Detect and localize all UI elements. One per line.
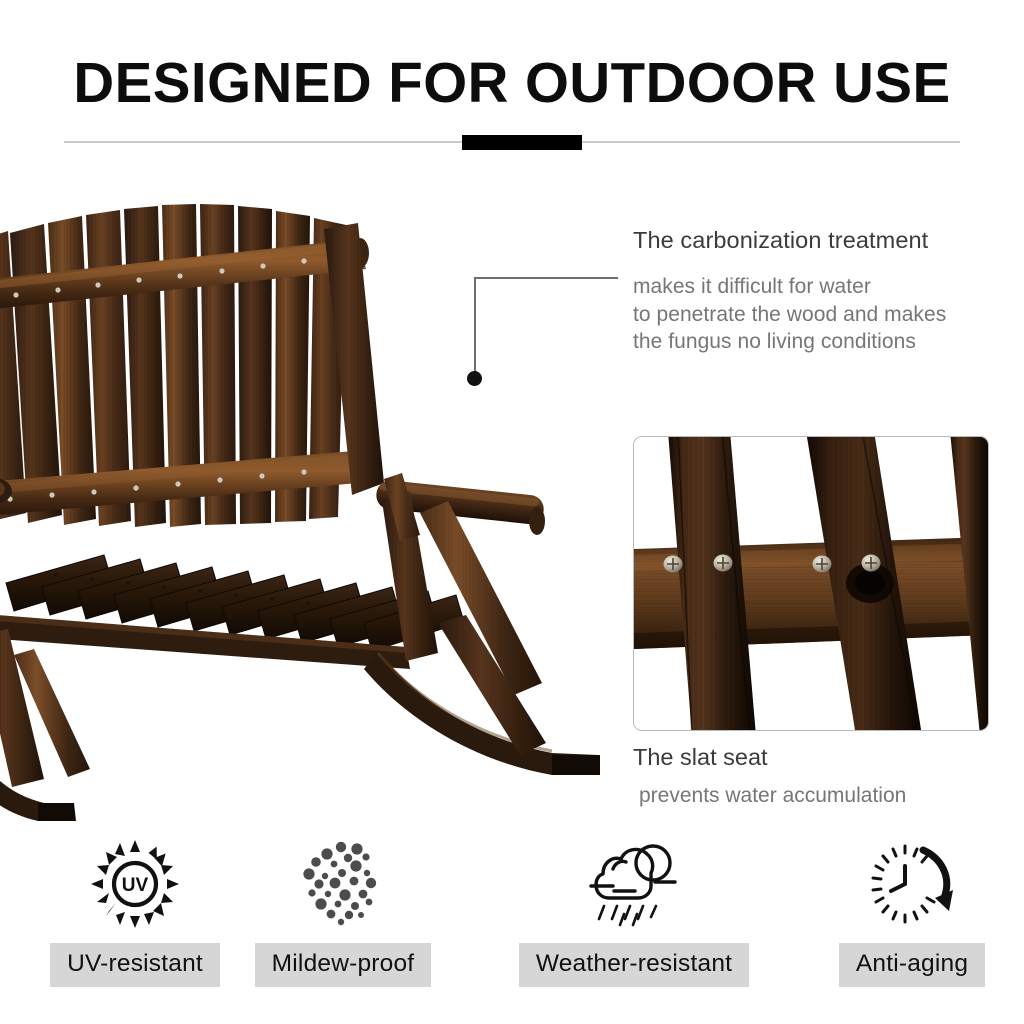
feature-mildew-proof: Mildew-proof (218, 836, 468, 987)
callout-body: makes it difficult for water to penetrat… (633, 273, 1011, 356)
feature-label-uv-resistant: UV-resistant (50, 943, 220, 987)
feature-badges-row: UV (0, 836, 1024, 996)
screw (714, 555, 733, 572)
screw (862, 555, 881, 572)
feature-label-anti-aging: Anti-aging (839, 943, 985, 987)
callout-heading: The carbonization treatment (633, 225, 1011, 255)
divider-accent-bar (462, 135, 582, 150)
screw (664, 556, 683, 573)
carbonization-callout: The carbonization treatment makes it dif… (633, 225, 1011, 356)
clock-arrow-icon (800, 836, 1024, 932)
feature-anti-aging: Anti-aging (800, 836, 1024, 987)
product-infographic-page: DESIGNED FOR OUTDOOR USE (0, 0, 1024, 1024)
feature-weather-resistant: Weather-resistant (466, 836, 802, 987)
title-divider (64, 133, 960, 151)
mildew-spores-icon (218, 836, 468, 932)
slat-seat-closeup-photo (633, 436, 989, 731)
leader-horizontal-segment (474, 277, 618, 279)
leader-vertical-segment (474, 277, 476, 378)
leader-endpoint-dot (467, 371, 482, 386)
svg-text:UV: UV (122, 875, 149, 896)
cloud-rain-sun-icon (466, 836, 802, 932)
inset-caption-body: prevents water accumulation (639, 782, 1023, 809)
inset-caption-heading: The slat seat (633, 742, 1023, 772)
inset-caption: The slat seat prevents water accumulatio… (633, 742, 1023, 809)
feature-label-mildew-proof: Mildew-proof (255, 943, 432, 987)
callout-leader-line (440, 260, 640, 400)
page-title: DESIGNED FOR OUTDOOR USE (5, 52, 1019, 114)
feature-label-weather-resistant: Weather-resistant (519, 943, 749, 987)
screw (813, 556, 832, 573)
